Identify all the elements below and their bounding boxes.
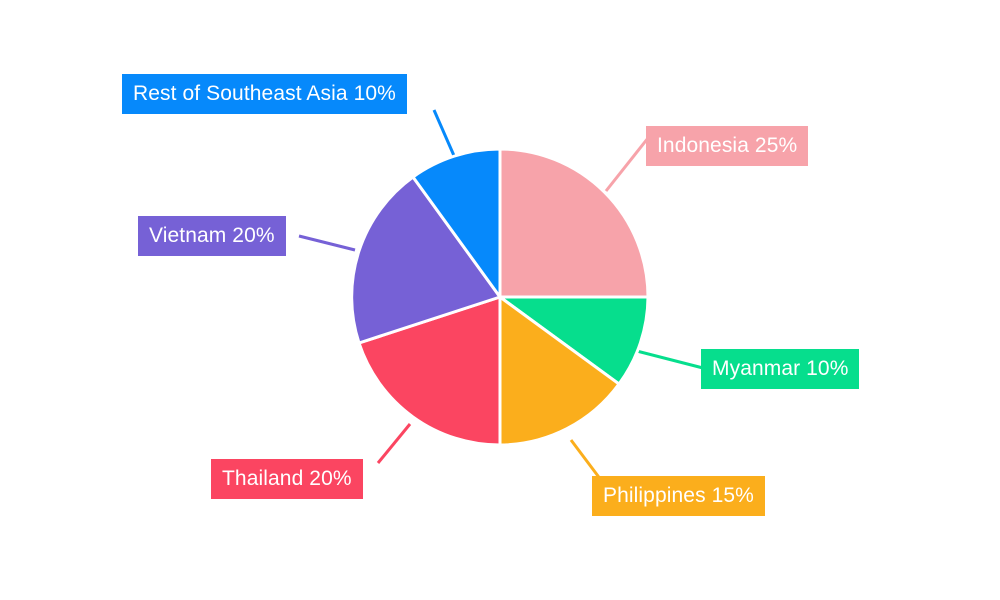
leader-line-myanmar (629, 349, 703, 368)
leader-line-rest-of-southeast-asia (434, 110, 455, 158)
pie-label-indonesia[interactable]: Indonesia 25% (646, 126, 808, 166)
pie-label-philippines[interactable]: Philippines 15% (592, 476, 765, 516)
pie-label-thailand[interactable]: Thailand 20% (211, 459, 363, 499)
pie-label-rest-of-southeast-asia[interactable]: Rest of Southeast Asia 10% (122, 74, 407, 114)
pie-slices (352, 149, 648, 445)
leader-line-vietnam (299, 236, 355, 250)
pie-label-myanmar[interactable]: Myanmar 10% (701, 349, 859, 389)
pie-slice-indonesia[interactable] (500, 149, 648, 297)
leader-line-philippines (571, 440, 601, 480)
pie-chart-figure: Rest of Southeast Asia 10% Indonesia 25%… (0, 0, 1000, 600)
pie-label-vietnam[interactable]: Vietnam 20% (138, 216, 286, 256)
leader-line-thailand (378, 424, 410, 463)
